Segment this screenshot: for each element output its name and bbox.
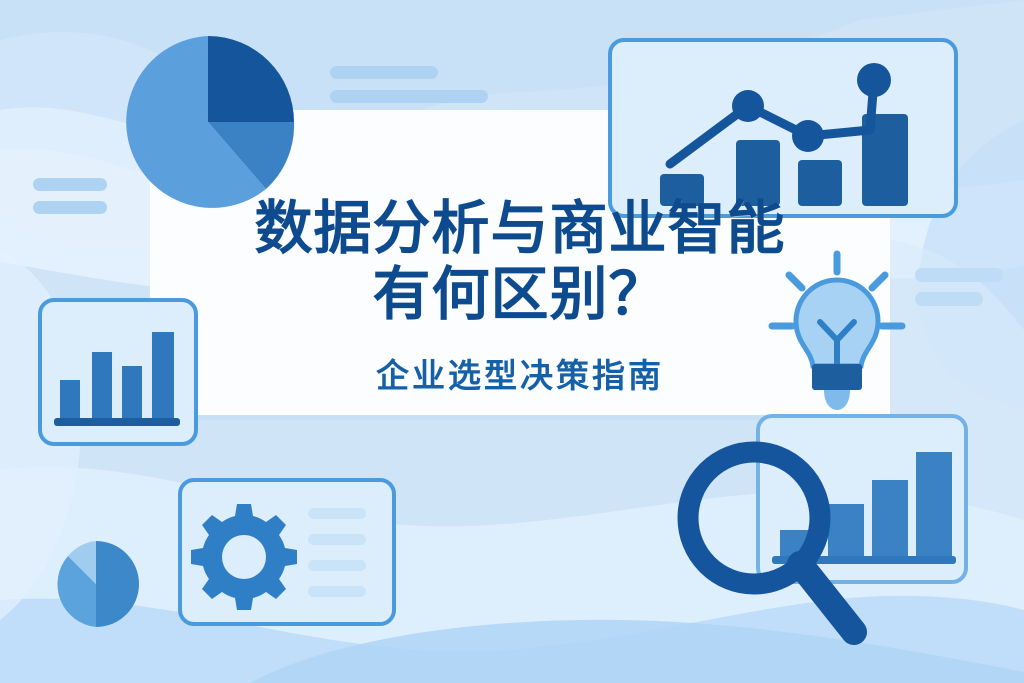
deco-bar-left-1 — [33, 178, 107, 191]
deco-bar-right-2 — [915, 292, 983, 306]
settings-card-svg — [182, 482, 392, 622]
deco-bar-left-2 — [33, 201, 107, 214]
pie-chart-large — [118, 32, 298, 212]
deco-bar-top-2 — [330, 90, 488, 103]
combo-dot-2 — [792, 120, 824, 152]
settings-card — [178, 478, 396, 626]
left-bar-2 — [92, 352, 112, 420]
magnifier-lens — [688, 452, 820, 584]
poster-canvas: 数据分析与商业智能 有何区别？ 企业选型决策指南 — [0, 0, 1024, 683]
deco-bar-top-1 — [330, 66, 438, 79]
search-bar-4 — [916, 452, 952, 558]
deco-bar-right-1 — [915, 268, 1003, 282]
lightbulb-tip — [824, 390, 850, 410]
left-bar-1 — [60, 380, 80, 420]
lightbulb-base — [812, 364, 862, 390]
combo-chart-card — [608, 38, 958, 218]
combo-dot-1 — [732, 90, 764, 122]
left-baseline — [54, 418, 180, 426]
search-bar-3 — [872, 480, 908, 558]
lightbulb-idea — [762, 248, 912, 413]
settings-line-2 — [308, 534, 366, 545]
left-bar-3 — [122, 366, 142, 420]
pie-chart-small — [50, 538, 142, 630]
magnifier-handle — [800, 564, 854, 632]
magnifier-icon — [676, 440, 876, 640]
settings-line-4 — [308, 586, 366, 597]
settings-line-1 — [308, 508, 366, 519]
combo-dot-3 — [857, 63, 891, 97]
gear-icon — [191, 504, 297, 610]
settings-line-3 — [308, 560, 366, 571]
combo-chart-svg — [612, 42, 954, 214]
